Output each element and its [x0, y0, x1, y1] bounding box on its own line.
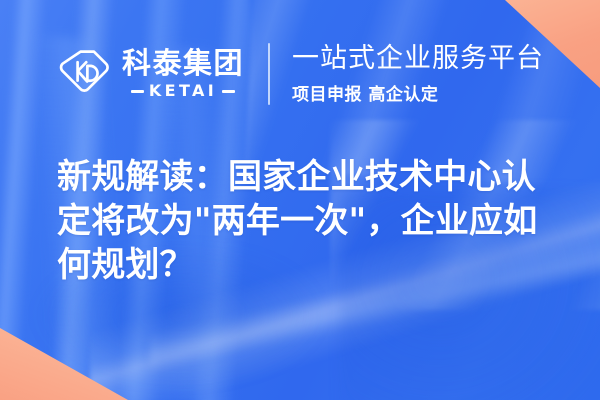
logo-company-name-en: KETAI	[149, 83, 217, 99]
banner-header: 科泰集团 KETAI 一站式企业服务平台 项目申报 高企认定	[58, 38, 544, 110]
page-title: 新规解读：国家企业技术中心认定将改为"两年一次"，企业应如何规划？	[57, 155, 549, 287]
logo-english-row: KETAI	[122, 83, 244, 99]
ketai-logo-lockup: 科泰集团 KETAI	[58, 48, 244, 100]
vertical-divider-icon	[268, 43, 270, 105]
logo-rule-right-icon	[222, 90, 235, 93]
tagline-secondary: 项目申报 高企认定	[292, 80, 544, 105]
tagline-primary: 一站式企业服务平台	[292, 43, 544, 74]
logo-rule-left-icon	[131, 90, 144, 93]
ketai-wordmark: 科泰集团 KETAI	[122, 49, 244, 99]
ketai-diamond-kd-logo-icon	[58, 48, 110, 100]
logo-company-name-cn: 科泰集团	[122, 49, 244, 78]
header-tagline: 一站式企业服务平台 项目申报 高企认定	[292, 43, 544, 105]
promo-banner: 科泰集团 KETAI 一站式企业服务平台 项目申报 高企认定 新规解读：国家企业…	[0, 0, 600, 400]
